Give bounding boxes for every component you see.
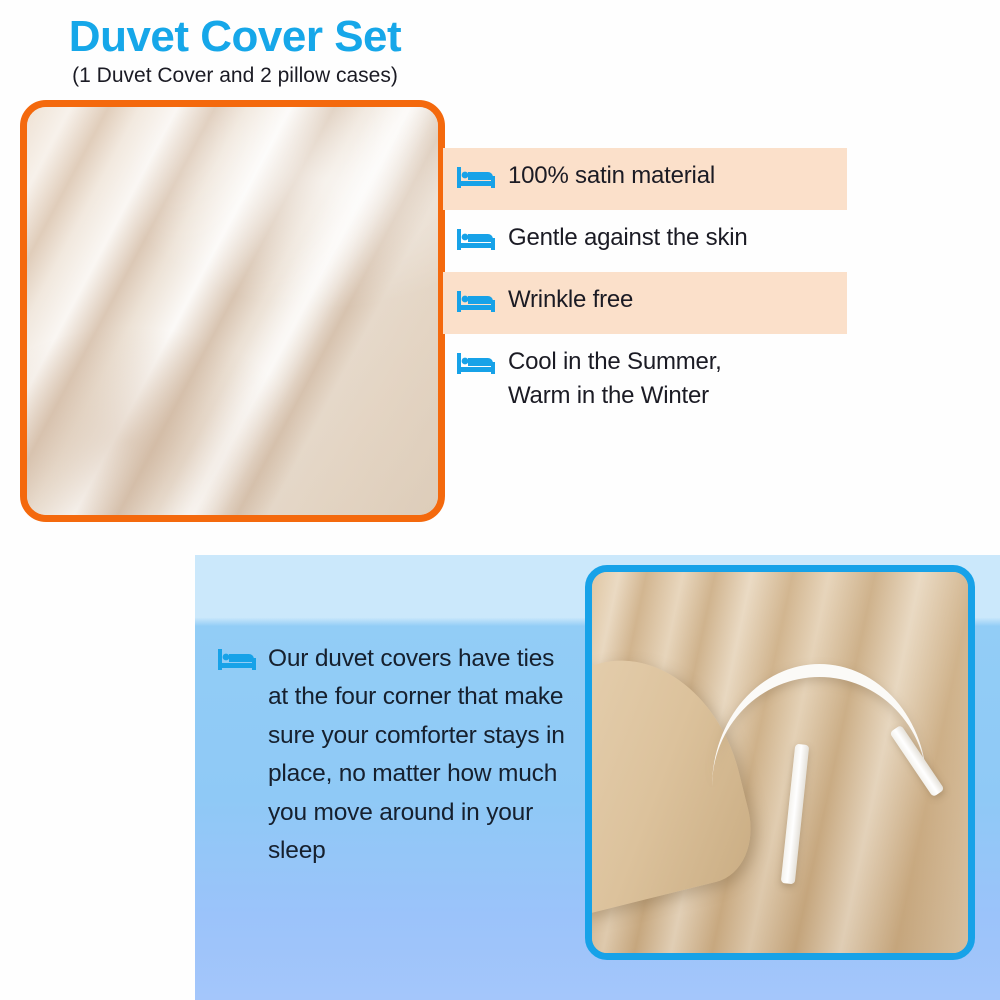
satin-fabric-photo (20, 100, 445, 522)
bed-icon (457, 288, 495, 314)
feature-label: 100% satin material (508, 159, 715, 193)
tie-note: Our duvet covers have ties at the four c… (218, 640, 578, 871)
page-subtitle: (1 Duvet Cover and 2 pillow cases) (0, 64, 470, 87)
bed-icon (218, 646, 256, 672)
feature-list: 100% satin material Gentle against the s… (443, 148, 847, 424)
feature-item-wrinkle-free: Wrinkle free (443, 272, 847, 334)
title-block: Duvet Cover Set (1 Duvet Cover and 2 pil… (0, 14, 470, 87)
feature-item-satin-material: 100% satin material (443, 148, 847, 210)
bed-icon (457, 350, 495, 376)
duvet-tie-photo (585, 565, 975, 960)
bed-icon (457, 226, 495, 252)
fabric-sheen (27, 107, 438, 515)
feature-label: Wrinkle free (508, 283, 633, 317)
page-title: Duvet Cover Set (0, 14, 470, 60)
feature-label: Gentle against the skin (508, 221, 748, 255)
feature-label: Cool in the Summer, Warm in the Winter (508, 345, 722, 413)
tie-note-text: Our duvet covers have ties at the four c… (268, 640, 578, 871)
feature-item-gentle-skin: Gentle against the skin (443, 210, 847, 272)
feature-item-cool-warm: Cool in the Summer, Warm in the Winter (443, 334, 847, 424)
bed-icon (457, 164, 495, 190)
